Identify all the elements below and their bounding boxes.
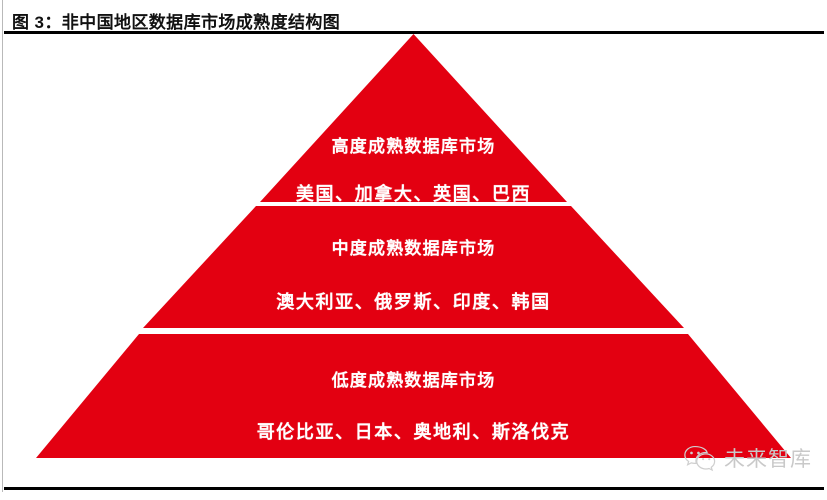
pyramid-tier-medium-shape [0, 206, 827, 328]
pyramid-tier-low[interactable]: 低度成熟数据库市场 哥伦比亚、日本、奥地利、斯洛伐克 [0, 334, 827, 458]
maturity-pyramid: 高度成熟数据库市场 美国、加拿大、英国、巴西 中度成熟数据库市场 澳大利亚、俄罗… [0, 34, 827, 484]
wechat-icon [683, 444, 717, 472]
pyramid-tier-high[interactable]: 高度成熟数据库市场 美国、加拿大、英国、巴西 [0, 34, 827, 202]
figure-bottom-rule [4, 487, 824, 490]
pyramid-tier-high-shape [0, 34, 827, 202]
watermark-label: 未来智库 [724, 443, 812, 473]
figure-caption: 图 3：非中国地区数据库市场成熟度结构图 [12, 8, 340, 33]
pyramid-tier-medium[interactable]: 中度成熟数据库市场 澳大利亚、俄罗斯、印度、韩国 [0, 206, 827, 328]
pyramid-tier-low-shape [0, 334, 827, 458]
figure-container: 图 3：非中国地区数据库市场成熟度结构图 高度成熟数据库市场 美国、加拿大、英国… [0, 0, 827, 500]
watermark: 未来智库 [683, 443, 812, 473]
